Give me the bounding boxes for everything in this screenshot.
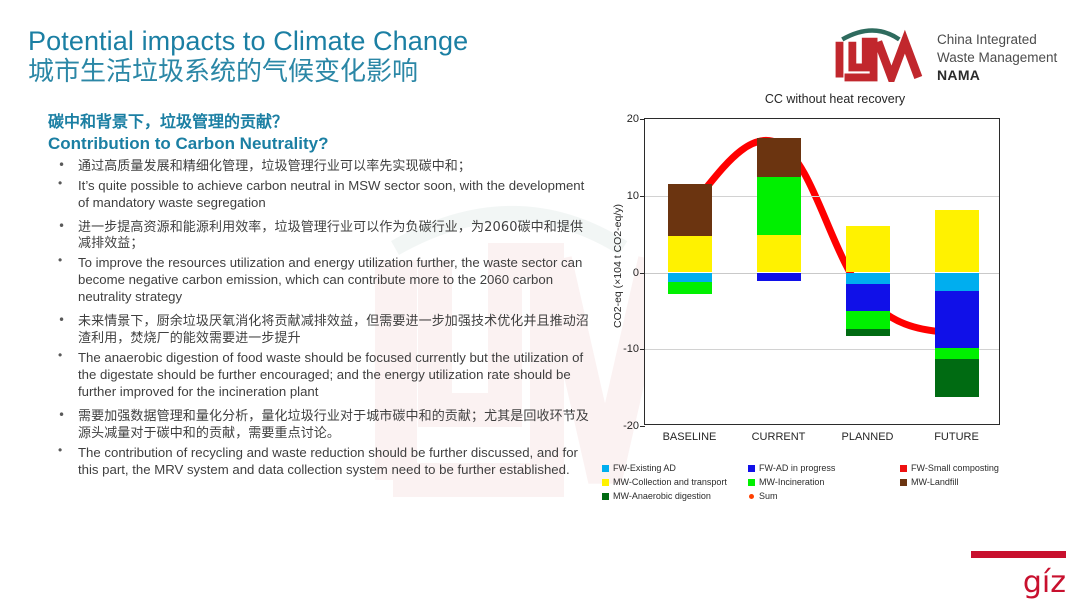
- legend-row: FW-Existing ADFW-AD in progressFW-Small …: [602, 462, 1072, 476]
- legend-item[interactable]: Sum: [748, 490, 900, 504]
- page-title-en: Potential impacts to Climate Change: [28, 26, 648, 57]
- sum-line-path: [690, 140, 957, 335]
- section-subheading-zh: 碳中和背景下，垃圾管理的贡献？: [48, 112, 593, 133]
- legend-swatch-icon: [900, 465, 907, 472]
- legend-item[interactable]: MW-Landfill: [900, 476, 958, 490]
- chart-bar: [935, 119, 979, 426]
- legend-swatch-icon: [900, 479, 907, 486]
- bullet-item: To improve the resources utilization and…: [48, 254, 593, 305]
- chart-bar-segment: [668, 273, 712, 282]
- chart-bar-segment: [668, 184, 712, 236]
- chart-y-tick-label: -20: [623, 420, 639, 432]
- legend-label: MW-Landfill: [911, 476, 958, 490]
- chart-bar-segment: [935, 359, 979, 397]
- chart-y-tick-label: -10: [623, 343, 639, 355]
- bullet-item: 通过高质量发展和精细化管理，垃圾管理行业可以率先实现碳中和；: [48, 159, 593, 176]
- chart-bar-segment: [757, 138, 801, 177]
- legend-label: Sum: [759, 490, 778, 504]
- logo-caption: China Integrated Waste Management NAMA: [937, 26, 1057, 84]
- chart-y-tick-mark: [640, 196, 645, 197]
- content-column: 碳中和背景下，垃圾管理的贡献？ Contribution to Carbon N…: [48, 112, 593, 479]
- chart-title: CC without heat recovery: [600, 92, 1070, 106]
- legend-item[interactable]: MW-Anaerobic digestion: [602, 490, 748, 504]
- giz-wordmark: gíz: [946, 571, 1066, 595]
- legend-item[interactable]: MW-Collection and transport: [602, 476, 748, 490]
- chart-bar-segment: [846, 284, 890, 311]
- chart-bar-segment: [757, 235, 801, 273]
- bullet-list: 通过高质量发展和精细化管理，垃圾管理行业可以率先实现碳中和；It’s quite…: [48, 159, 593, 478]
- legend-swatch-icon: [748, 465, 755, 472]
- chart-y-tick-mark: [640, 426, 645, 427]
- chart-plot-area: 20100-10-20BASELINECURRENTPLANNEDFUTURE: [644, 118, 1000, 425]
- logo-caption-line2: Waste Management: [937, 49, 1057, 67]
- chart-bar-segment: [757, 273, 801, 281]
- legend-label: MW-Anaerobic digestion: [613, 490, 711, 504]
- chart-bar: [846, 119, 890, 426]
- chart-y-tick-mark: [640, 273, 645, 274]
- legend-label: MW-Incineration: [759, 476, 824, 490]
- chart-y-tick-label: 0: [633, 267, 639, 279]
- chart-y-tick-mark: [640, 349, 645, 350]
- giz-bar: [971, 551, 1066, 558]
- chart-bar-segment: [935, 291, 979, 348]
- chart-x-tick-label: CURRENT: [752, 431, 806, 443]
- page-title-zh: 城市生活垃圾系统的气候变化影响: [28, 57, 648, 87]
- legend-item[interactable]: FW-Small composting: [900, 462, 999, 476]
- logo-caption-line1: China Integrated: [937, 31, 1057, 49]
- page-title: Potential impacts to Climate Change 城市生活…: [28, 26, 648, 87]
- giz-logo: gíz: [946, 551, 1066, 595]
- chart-y-tick-mark: [640, 119, 645, 120]
- legend-item[interactable]: FW-AD in progress: [748, 462, 900, 476]
- chart-bar-segment: [846, 311, 890, 329]
- chart-y-tick-label: 10: [627, 190, 639, 202]
- chart-bar-segment: [935, 210, 979, 273]
- bullet-item: The contribution of recycling and waste …: [48, 444, 593, 478]
- chart-bar-segment: [846, 273, 890, 285]
- section-subheading-en: Contribution to Carbon Neutrality?: [48, 133, 593, 155]
- legend-row: MW-Collection and transportMW-Incinerati…: [602, 476, 1072, 490]
- legend-swatch-icon: [749, 494, 754, 499]
- chart-bar-segment: [935, 273, 979, 291]
- bullet-item: 需要加强数据管理和量化分析，量化垃圾行业对于城市碳中和的贡献；尤其是回收环节及源…: [48, 409, 593, 443]
- chart-bar-segment: [935, 348, 979, 360]
- chart-bar: [757, 119, 801, 426]
- legend-item[interactable]: FW-Existing AD: [602, 462, 748, 476]
- legend-item[interactable]: MW-Incineration: [748, 476, 900, 490]
- chart-bar-segment: [757, 177, 801, 235]
- legend-label: FW-Small composting: [911, 462, 999, 476]
- bullet-item: 进一步提高资源和能源利用效率，垃圾管理行业可以作为负碳行业，为2060碳中和提供…: [48, 220, 593, 254]
- chart-bar-segment: [668, 282, 712, 294]
- bullet-item: It’s quite possible to achieve carbon ne…: [48, 177, 593, 211]
- legend-swatch-icon: [602, 465, 609, 472]
- chart-x-tick-label: PLANNED: [842, 431, 894, 443]
- iwm-logo-block: China Integrated Waste Management NAMA: [830, 26, 1057, 84]
- chart-bar-segment: [846, 329, 890, 337]
- legend-swatch-icon: [602, 479, 609, 486]
- iwm-logo-icon: [830, 26, 925, 82]
- legend-row: MW-Anaerobic digestionSum: [602, 490, 1072, 504]
- bullet-item: 未来情景下，厨余垃圾厌氧消化将贡献减排效益，但需要进一步加强技术优化并且推动沼渣…: [48, 314, 593, 348]
- chart-bar-segment: [668, 236, 712, 272]
- section-subheading: 碳中和背景下，垃圾管理的贡献？ Contribution to Carbon N…: [48, 112, 593, 155]
- bullet-item: The anaerobic digestion of food waste sh…: [48, 349, 593, 400]
- legend-swatch-icon: [602, 493, 609, 500]
- chart-bar-segment: [846, 226, 890, 272]
- chart-y-tick-label: 20: [627, 113, 639, 125]
- legend-swatch-icon: [748, 479, 755, 486]
- legend-label: FW-AD in progress: [759, 462, 835, 476]
- chart-legend: FW-Existing ADFW-AD in progressFW-Small …: [602, 462, 1072, 504]
- chart-x-tick-label: FUTURE: [934, 431, 979, 443]
- chart-bar: [668, 119, 712, 426]
- chart-y-axis-label: CO2-eq (×104 t CO2-eq/y): [612, 166, 624, 366]
- legend-label: MW-Collection and transport: [613, 476, 727, 490]
- legend-label: FW-Existing AD: [613, 462, 676, 476]
- logo-caption-nama: NAMA: [937, 66, 1057, 84]
- chart-x-tick-label: BASELINE: [663, 431, 717, 443]
